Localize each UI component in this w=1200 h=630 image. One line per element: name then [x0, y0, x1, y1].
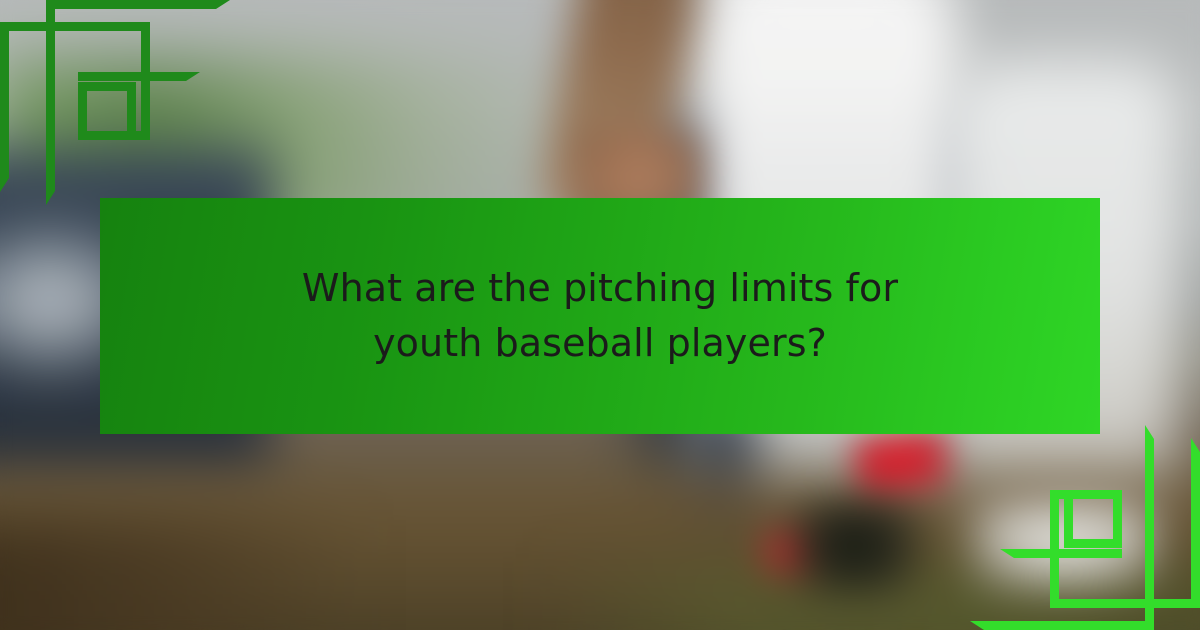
- background-red-shoe: [851, 426, 955, 501]
- title-banner: What are the pitching limits for youth b…: [100, 198, 1100, 434]
- background-dark-shoe: [790, 500, 920, 598]
- background-dirt-shadow: [0, 520, 360, 630]
- background-white-shoe: [970, 500, 1160, 590]
- poster-canvas: What are the pitching limits for youth b…: [0, 0, 1200, 630]
- page-title: What are the pitching limits for youth b…: [250, 261, 950, 371]
